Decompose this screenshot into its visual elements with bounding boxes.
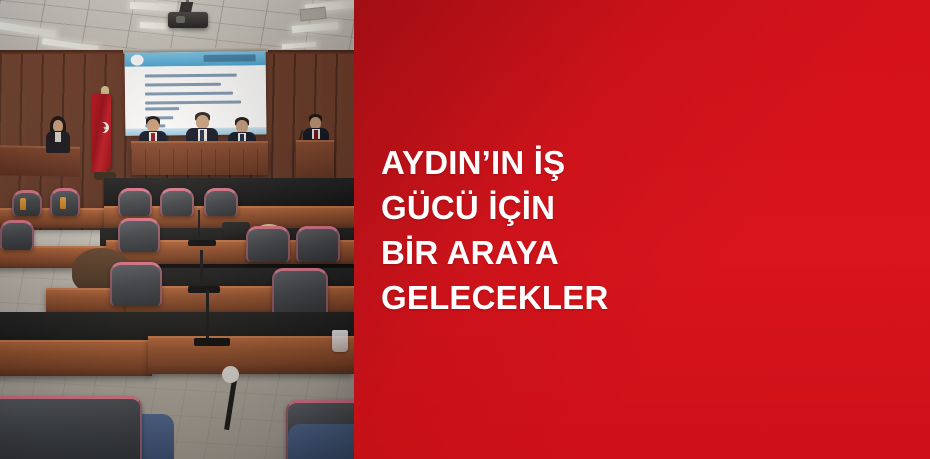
audience-desk: [0, 340, 152, 376]
seated-person: [45, 116, 71, 152]
drinking-glass: [332, 330, 348, 352]
audience-chair: [296, 226, 340, 262]
microphone-stand: [206, 290, 209, 340]
person-tie: [314, 130, 318, 140]
flag-finial: [101, 86, 109, 94]
audience-chair: [272, 268, 328, 316]
audience-chair: [160, 188, 194, 216]
panel-desk: [131, 141, 268, 175]
projector-icon: [168, 12, 208, 28]
headline-line-2: GÜCÜ İÇİN: [381, 185, 609, 230]
audience-chair: [118, 218, 160, 252]
slide-title-text: [204, 54, 256, 62]
microphone-stand: [198, 210, 200, 242]
microphone-base: [194, 338, 230, 346]
microphone-stand: [200, 250, 203, 290]
person-shoulders: [288, 424, 354, 459]
slide-bullet-line: [145, 83, 221, 86]
headline-text: AYDIN’IN İŞ GÜCÜ İÇİN BİR ARAYA GELECEKL…: [354, 140, 627, 320]
audience-chair: [0, 396, 142, 459]
person-head: [196, 115, 209, 129]
audience-chair: [118, 188, 152, 216]
microphone-base: [188, 286, 220, 293]
headline-line-3: BİR ARAYA: [381, 230, 609, 275]
slide-bullet-line: [145, 107, 179, 110]
microphone-head-icon: [222, 366, 239, 383]
turkish-flag-icon: [92, 94, 111, 172]
headline-panel: AYDIN’IN İŞ GÜCÜ İÇİN BİR ARAYA GELECEKL…: [354, 0, 930, 459]
audience-chair: [246, 226, 290, 262]
audience-chair: [204, 188, 238, 216]
slide-header-bar: [125, 51, 266, 66]
audience-chair: [0, 220, 34, 250]
audience-desk: [148, 336, 354, 374]
slide-bullet-line: [145, 101, 241, 105]
microphone-base: [188, 240, 216, 246]
audience-chair: [110, 262, 162, 306]
headline-line-1: AYDIN’IN İŞ: [381, 140, 609, 185]
news-photo: [0, 0, 354, 459]
slide-bullet-line: [145, 92, 233, 95]
slide-logo-icon: [131, 55, 144, 66]
water-bottle: [20, 198, 26, 210]
water-bottle: [60, 197, 66, 209]
foreground-attendee: [280, 412, 354, 459]
projector-lens: [176, 16, 185, 23]
person-shirt: [55, 132, 61, 142]
panel-desk-front: [131, 149, 268, 177]
audience-chair: [12, 190, 42, 216]
slide-bullet-line: [145, 74, 237, 77]
news-card: AYDIN’IN İŞ GÜCÜ İÇİN BİR ARAYA GELECEKL…: [0, 0, 930, 459]
headline-line-4: GELECEKLER: [381, 275, 609, 320]
